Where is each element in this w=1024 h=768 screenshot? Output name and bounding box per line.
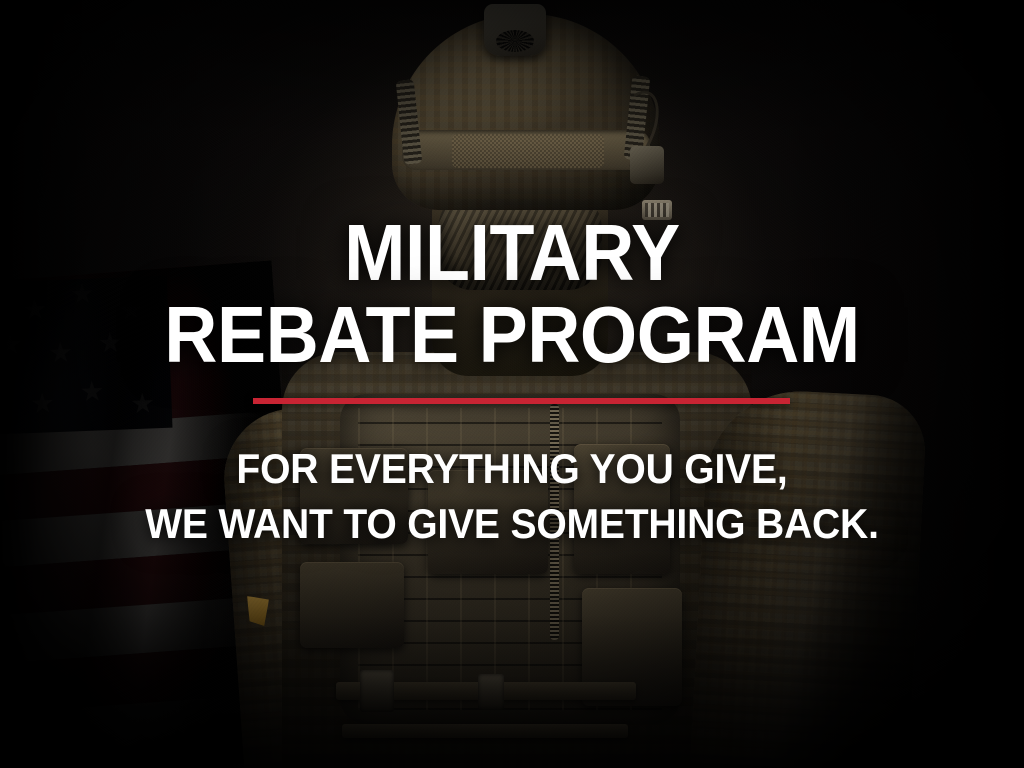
sleeve-shading [690,387,927,768]
waist-strap [342,724,628,738]
gear-pouch [428,470,548,574]
helmet-velcro-patch [452,134,604,168]
zipper [550,404,559,640]
strap-buckle [360,670,394,712]
gear-pouch [300,448,408,544]
ir-identification-tag [642,200,672,220]
military-rebate-banner: MILITARY REBATE PROGRAM FOR EVERYTHING Y… [0,0,1024,768]
gear-pouch [574,444,670,574]
torso-plate-carrier [282,352,752,768]
helmet-battery-pack [630,146,664,184]
right-sleeve [690,387,927,768]
nvg-mount-shroud-icon [484,4,546,56]
soldier-background-photo [0,0,1024,768]
strap-buckle [478,674,504,710]
gear-pouch [300,562,404,648]
